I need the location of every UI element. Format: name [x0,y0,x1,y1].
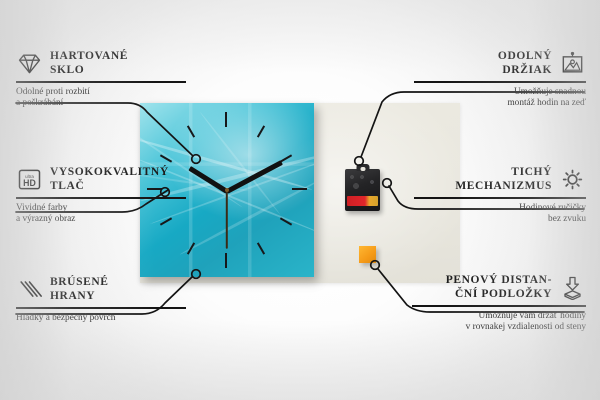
divider [16,81,186,83]
divider [412,305,586,307]
feature-durable-holder: ODOLNÝ DRŽIAK Umožňuje snadnou montáž ho… [414,50,586,110]
feature-description: Hodinové ručičky bez zvuku [414,203,586,226]
gear-icon [559,167,586,192]
feature-description: Vividné farby a výrazný obraz [16,203,186,226]
foam-layers-icon [559,275,586,300]
beveled-edges-icon [16,277,43,302]
feature-description: Umožňuje vám držať hodiny v rovnakej vzd… [412,311,586,334]
feature-title: HARTOVANÉ SKLO [50,50,128,77]
diamond-icon [16,51,43,76]
clock-tick [225,253,227,268]
infographic-canvas: HARTOVANÉ SKLO Odolné proti rozbití a po… [0,0,600,400]
feature-title: BRÚSENÉ HRANY [50,276,109,303]
mechanism-detail [348,173,377,191]
clock-center-pin [225,188,229,192]
clock-tick [292,188,307,190]
clock-second-hand [226,191,228,249]
picture-frame-icon [559,51,586,76]
feature-tempered-glass: HARTOVANÉ SKLO Odolné proti rozbití a po… [16,50,186,110]
feature-title: TICHÝ MECHANIZMUS [455,166,552,193]
feature-description: Odolné proti rozbití a poškrábání [16,87,186,110]
feature-description: Hladký a bezpečný povrch [16,313,186,325]
divider [414,81,586,83]
ultra-hd-icon: ultra HD [16,167,43,192]
feature-title: ODOLNÝ DRŽIAK [498,50,552,77]
clock-tick [225,112,227,127]
feature-high-quality-print: ultra HD VYSOKOKVALITNÝ TLAČ Vividné far… [16,166,186,226]
svg-text:HD: HD [23,178,36,188]
clock-mechanism [345,169,380,211]
feature-description: Umožňuje snadnou montáž hodin na zeď [414,87,586,110]
feature-title: PENOVÝ DISTAN- ČNÍ PODLOŽKY [446,274,552,301]
feature-title: VYSOKOKVALITNÝ TLAČ [50,166,169,193]
divider [414,197,586,199]
divider [16,307,186,309]
product-photo [140,103,460,283]
feature-beveled-edges: BRÚSENÉ HRANY Hladký a bezpečný povrch [16,276,186,324]
feature-silent-mechanism: TICHÝ MECHANIZMUS Hodinové ručičky bez z… [414,166,586,226]
foam-spacer-pad [359,246,376,263]
mechanism-hanger-hole [360,167,365,171]
feature-foam-spacers: PENOVÝ DISTAN- ČNÍ PODLOŽKY Umožňuje vám… [412,274,586,334]
divider [16,197,186,199]
battery [347,196,378,206]
